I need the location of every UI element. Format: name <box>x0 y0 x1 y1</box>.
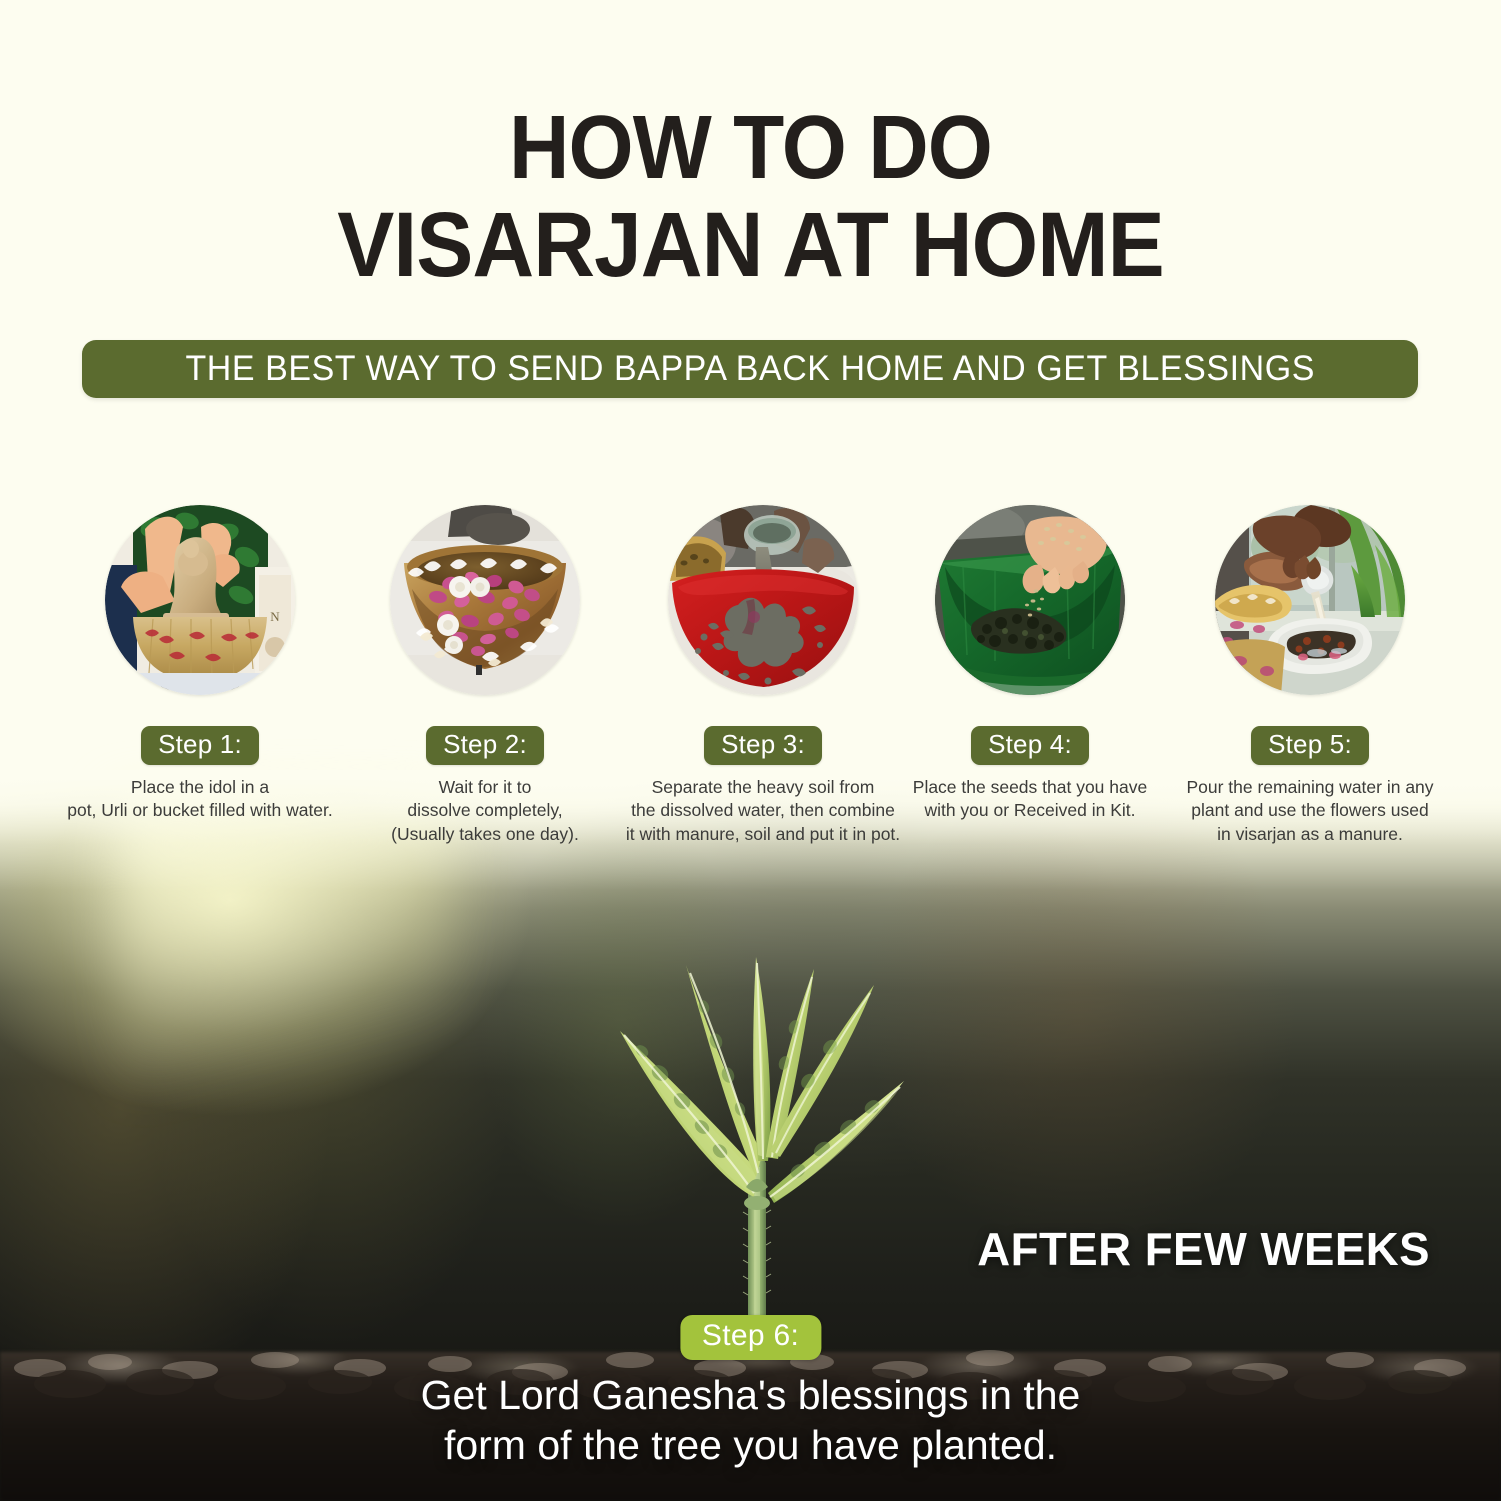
photo-dissolved-flowers <box>390 505 580 695</box>
photo-watering-plant <box>1215 505 1405 695</box>
sapling-illustration <box>598 955 918 1375</box>
infographic-poster: HOW TO DO VISARJAN AT HOME THE BEST WAY … <box>0 0 1501 1501</box>
photo-idol-in-urli: N <box>105 505 295 695</box>
step-badge-2: Step 2: <box>426 726 544 765</box>
step-caption-6: Get Lord Ganesha's blessings in the form… <box>0 1370 1501 1470</box>
title-line-2: VISARJAN AT HOME <box>53 200 1449 290</box>
photo-pouring-clay-on-cloth <box>668 505 858 695</box>
steps-row: N <box>0 505 1501 845</box>
photo-seeds-in-green-bin <box>935 505 1125 695</box>
subtitle-banner-text: THE BEST WAY TO SEND BAPPA BACK HOME AND… <box>185 349 1314 389</box>
step-badge-5: Step 5: <box>1251 726 1369 765</box>
step-badge-6: Step 6: <box>680 1315 821 1360</box>
subtitle-banner: THE BEST WAY TO SEND BAPPA BACK HOME AND… <box>82 340 1418 398</box>
svg-text:N: N <box>270 609 280 624</box>
page-title: HOW TO DO VISARJAN AT HOME <box>53 104 1449 290</box>
after-few-weeks-heading: AFTER FEW WEEKS <box>977 1222 1430 1276</box>
step-caption-5: Pour the remaining water in any plant an… <box>1140 776 1480 846</box>
step-badge-4: Step 4: <box>971 726 1089 765</box>
step-badge-3: Step 3: <box>704 726 822 765</box>
title-line-1: HOW TO DO <box>509 98 992 198</box>
step-badge-1: Step 1: <box>141 726 259 765</box>
step-item-5: Step 5: Pour the remaining water in any … <box>1140 505 1480 846</box>
